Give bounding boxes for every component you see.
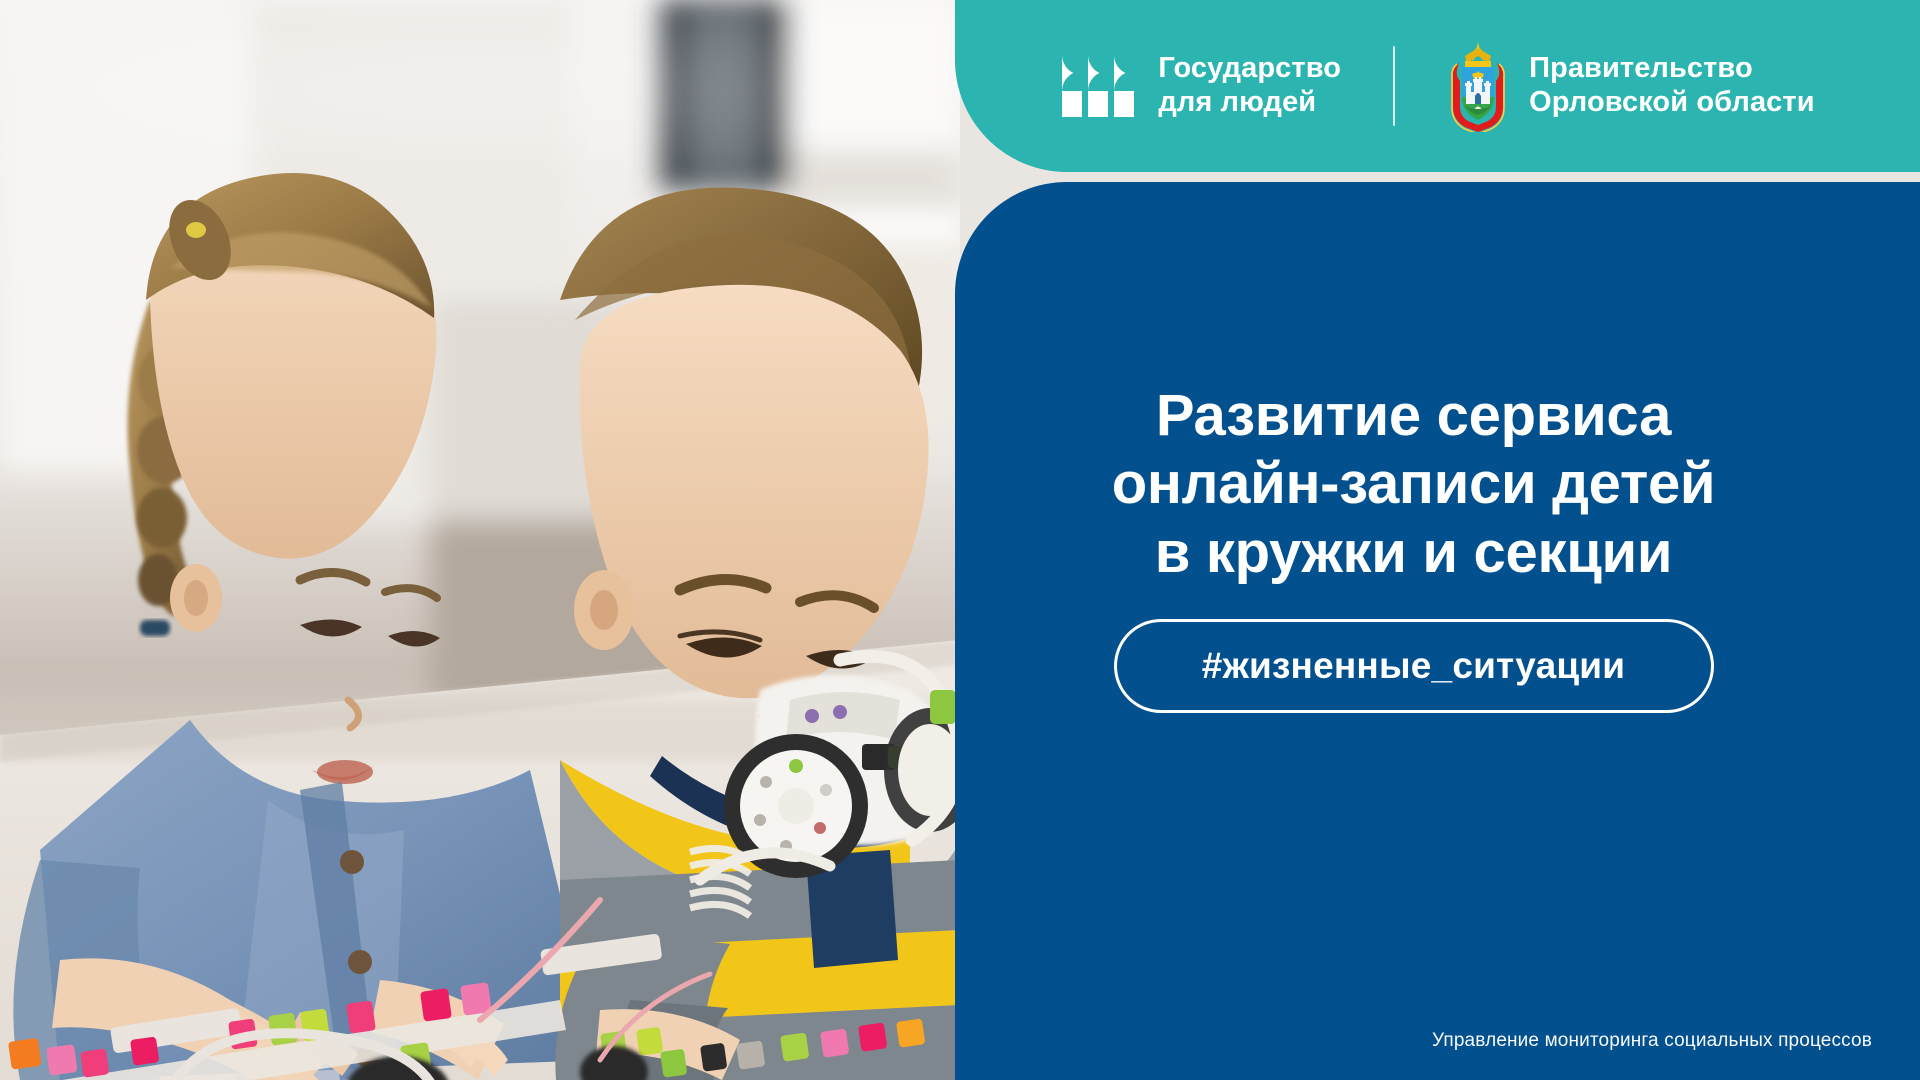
brand-row: Государство для людей [1060,40,1814,132]
oryol-government-label: Правительство Орловской области [1529,52,1815,120]
promo-poster: Государство для людей [0,0,1920,1080]
gosuslugi-brand[interactable]: Государство для людей [1060,49,1341,123]
hashtag-button[interactable]: #жизненные_ситуации [1114,619,1714,713]
content-panel: Развитие сервиса онлайн-записи детей в к… [955,182,1920,1080]
brand-divider [1393,46,1395,126]
oryol-oblast-coat-of-arms-icon [1447,40,1509,132]
department-credit: Управление мониторинга социальных процес… [1432,1030,1872,1052]
children-robotics-photo [0,0,960,1080]
oryol-government-brand[interactable]: Правительство Орловской области [1447,40,1815,132]
gosuslugi-three-flags-icon [1060,49,1136,123]
page-title: Развитие сервиса онлайн-записи детей в к… [955,382,1872,587]
header-panel: Государство для людей [955,0,1920,172]
gosuslugi-brand-label: Государство для людей [1158,52,1341,120]
